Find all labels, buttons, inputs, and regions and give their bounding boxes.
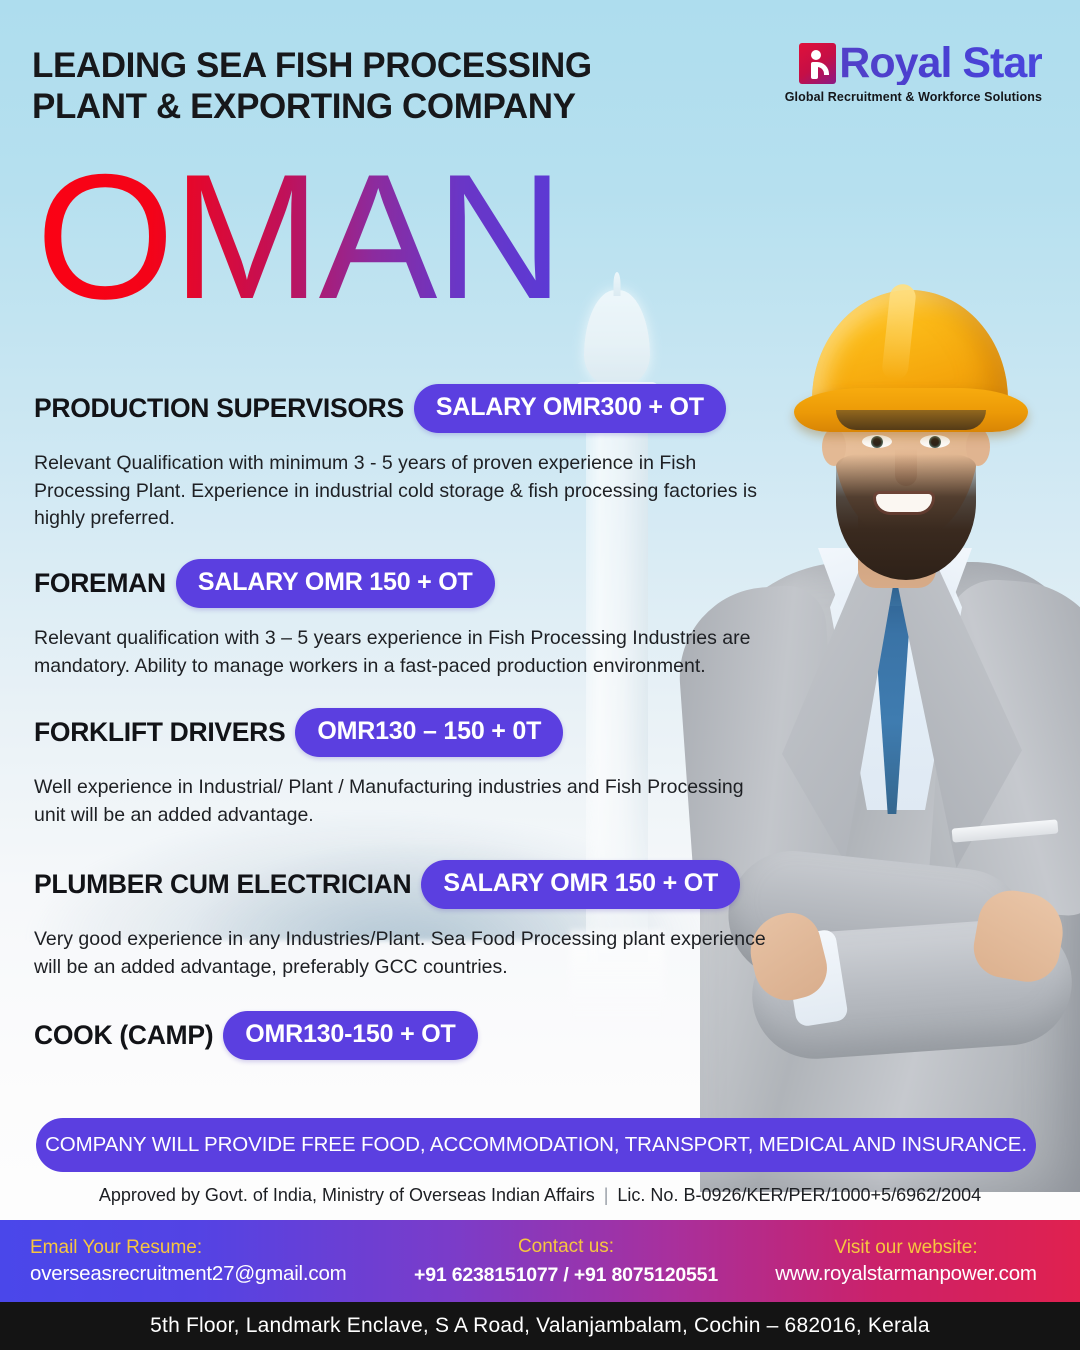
country-title: OMAN (36, 148, 562, 326)
salary-badge: SALARY OMR300 + OT (414, 384, 726, 433)
phone-numbers[interactable]: +91 6238151077 / +91 8075120551 (414, 1264, 718, 1287)
email-label: Email Your Resume: (30, 1237, 202, 1259)
approval-text: Approved by Govt. of India, Ministry of … (99, 1185, 595, 1205)
job-title: COOK (CAMP) (34, 1020, 213, 1051)
minaret-dome (584, 290, 650, 386)
salary-badge: OMR130-150 + OT (223, 1011, 477, 1060)
job-header: FORKLIFT DRIVERS OMR130 – 150 + 0T (0, 708, 1080, 757)
job-title: FORKLIFT DRIVERS (34, 717, 285, 748)
job-description: Relevant Qualification with minimum 3 - … (34, 450, 774, 533)
poster-root: LEADING SEA FISH PROCESSING PLANT & EXPO… (0, 0, 1080, 1350)
job-header: PRODUCTION SUPERVISORS SALARY OMR300 + O… (0, 384, 1080, 433)
job-header: PLUMBER CUM ELECTRICIAN SALARY OMR 150 +… (0, 860, 1080, 909)
job-title: PRODUCTION SUPERVISORS (34, 393, 404, 424)
job-item: COOK (CAMP) OMR130-150 + OT (0, 1011, 1080, 1060)
contact-phone-block: Contact us: +91 6238151077 / +91 8075120… (392, 1220, 740, 1302)
job-description: Very good experience in any Industries/P… (34, 926, 774, 981)
royal-star-monogram-icon (799, 43, 836, 84)
job-title: FOREMAN (34, 568, 166, 599)
job-list: PRODUCTION SUPERVISORS SALARY OMR300 + O… (0, 384, 1080, 1060)
office-address-bar: 5th Floor, Landmark Enclave, S A Road, V… (0, 1302, 1080, 1350)
approval-line: Approved by Govt. of India, Ministry of … (0, 1185, 1080, 1206)
job-description: Well experience in Industrial/ Plant / M… (34, 774, 774, 829)
job-description: Relevant qualification with 3 – 5 years … (34, 625, 774, 680)
poster-headline: LEADING SEA FISH PROCESSING PLANT & EXPO… (32, 46, 722, 127)
logo-wordmark: Royal Star (839, 42, 1042, 85)
salary-badge: OMR130 – 150 + 0T (295, 708, 563, 757)
website-url[interactable]: www.royalstarmanpower.com (775, 1262, 1037, 1286)
headline-line-2: PLANT & EXPORTING COMPANY (32, 87, 722, 128)
perks-banner: COMPANY WILL PROVIDE FREE FOOD, ACCOMMOD… (36, 1118, 1036, 1172)
headline-line-1: LEADING SEA FISH PROCESSING (32, 46, 722, 87)
job-title: PLUMBER CUM ELECTRICIAN (34, 869, 411, 900)
salary-badge: SALARY OMR 150 + OT (176, 559, 495, 608)
email-address[interactable]: overseasrecruitment27@gmail.com (30, 1262, 347, 1286)
approval-separator: | (604, 1185, 609, 1205)
company-logo: Royal Star Global Recruitment & Workforc… (780, 42, 1042, 104)
logo-tagline: Global Recruitment & Workforce Solutions (780, 90, 1042, 104)
salary-badge: SALARY OMR 150 + OT (421, 860, 740, 909)
monogram-head-dot (811, 50, 821, 60)
job-item: FORKLIFT DRIVERS OMR130 – 150 + 0T Well … (0, 708, 1080, 829)
contact-website-block: Visit our website: www.royalstarmanpower… (740, 1220, 1080, 1302)
job-item: FOREMAN SALARY OMR 150 + OT Relevant qua… (0, 559, 1080, 680)
job-header: FOREMAN SALARY OMR 150 + OT (0, 559, 1080, 608)
phone-label: Contact us: (518, 1236, 614, 1258)
job-item: PLUMBER CUM ELECTRICIAN SALARY OMR 150 +… (0, 860, 1080, 981)
website-label: Visit our website: (834, 1237, 977, 1259)
contact-bar: Email Your Resume: overseasrecruitment27… (0, 1220, 1080, 1302)
job-header: COOK (CAMP) OMR130-150 + OT (0, 1011, 1080, 1060)
monogram-arc (816, 62, 829, 75)
logo-row: Royal Star (780, 42, 1042, 85)
job-item: PRODUCTION SUPERVISORS SALARY OMR300 + O… (0, 384, 1080, 533)
contact-email-block: Email Your Resume: overseasrecruitment27… (0, 1220, 392, 1302)
license-number: Lic. No. B-0926/KER/PER/1000+5/6962/2004 (617, 1185, 981, 1205)
